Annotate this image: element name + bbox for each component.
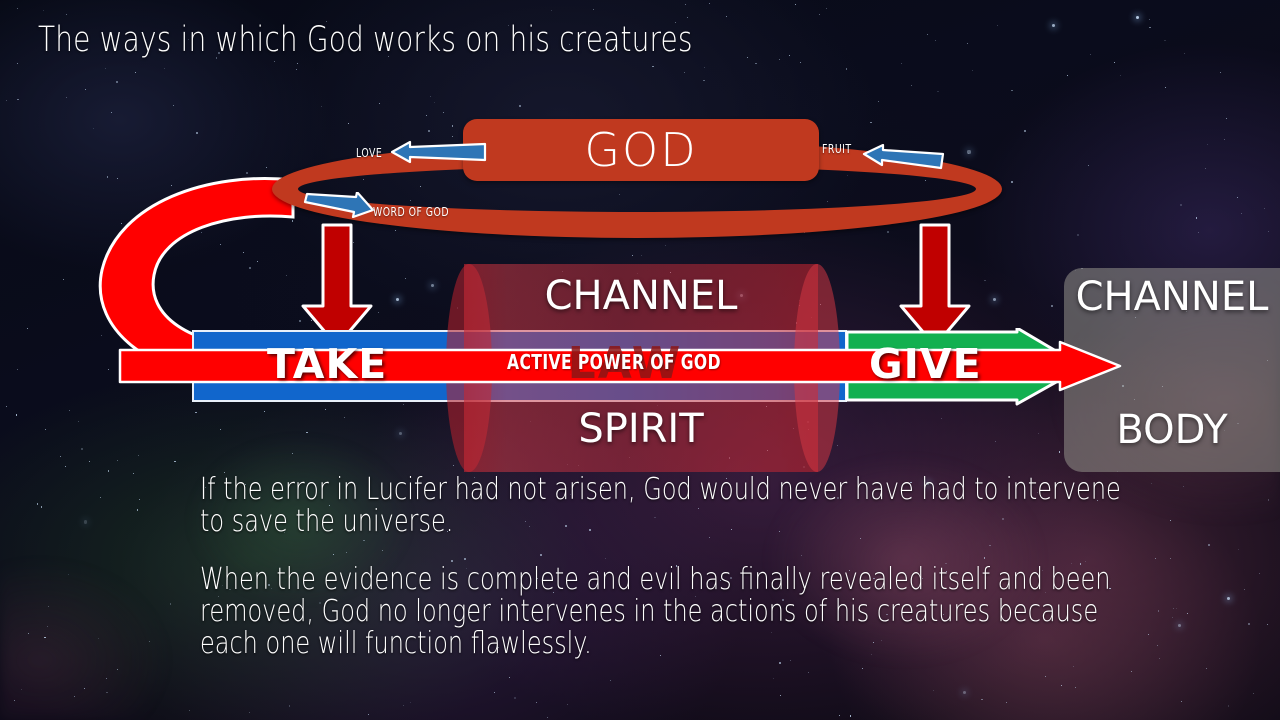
god-box: GOD bbox=[463, 119, 819, 181]
love-arrow-icon bbox=[390, 139, 488, 165]
body-panel-body-label: BODY bbox=[1064, 407, 1280, 453]
paragraph-2-line-3: each one will function flawlessly. bbox=[200, 628, 1272, 660]
give-label: GIVE bbox=[869, 340, 982, 388]
active-power-label: ACTIVE POWER OF GOD bbox=[507, 350, 781, 374]
presentation-slide: The ways in which God works on his creat… bbox=[0, 0, 1280, 720]
god-label: GOD bbox=[463, 123, 819, 177]
paragraph-2-line-1: When the evidence is complete and evil h… bbox=[200, 564, 1272, 596]
fruit-arrow-icon bbox=[862, 144, 946, 170]
ring-label-fruit: FRUIT bbox=[822, 142, 860, 156]
ring-label-love: LOVE bbox=[356, 146, 390, 160]
paragraph-1-line-2: to save the universe. bbox=[200, 506, 1272, 538]
take-label: TAKE bbox=[267, 340, 387, 388]
ring-label-word-of-god: WORD OF GOD bbox=[373, 205, 470, 219]
paragraph-2-line-2: removed, God no longer intervenes in the… bbox=[200, 596, 1272, 628]
cylinder-channel-label: CHANNEL bbox=[446, 273, 836, 319]
cylinder-spirit-label: SPIRIT bbox=[446, 406, 836, 452]
paragraph-1-line-1: If the error in Lucifer had not arisen, … bbox=[200, 474, 1272, 506]
body-panel-channel-label: CHANNEL bbox=[1064, 274, 1280, 320]
paragraph-2: When the evidence is complete and evil h… bbox=[200, 564, 1280, 660]
word-of-god-arrow-icon bbox=[303, 192, 375, 218]
paragraph-1: If the error in Lucifer had not arisen, … bbox=[200, 474, 1280, 538]
